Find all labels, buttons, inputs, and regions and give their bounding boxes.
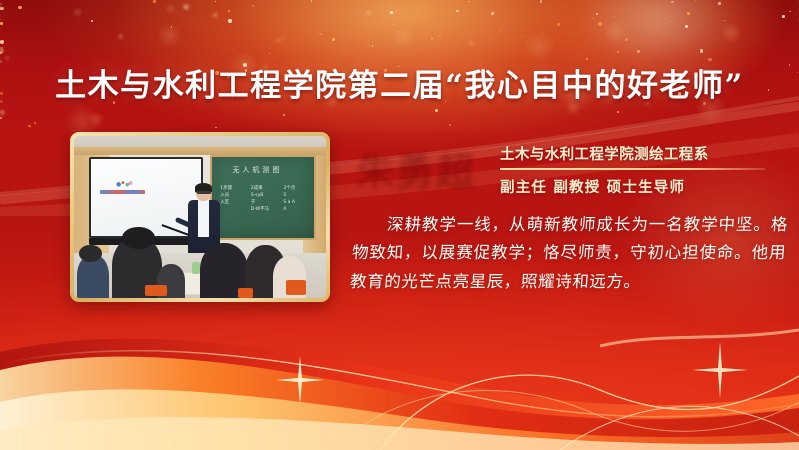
page-title: 土木与水利工程学院第二届“我心目中的好老师” bbox=[0, 60, 799, 105]
poster-canvas: 土木与水利工程学院第二届“我心目中的好老师” 无人机测图 1步骤入员入区 2成果… bbox=[0, 0, 799, 450]
blackboard: 无人机测图 1步骤入员入区 2成果S-syB子D-W不马 3个点SS a AA bbox=[210, 155, 316, 239]
blackboard-column-3: 3个点SS a AA bbox=[283, 186, 295, 213]
slide-illustration bbox=[115, 179, 133, 187]
slide-caption bbox=[100, 190, 145, 194]
teacher-photo-frame: 无人机测图 1步骤入员入区 2成果S-syB子D-W不马 3个点SS a AA bbox=[70, 132, 330, 302]
blackboard-title: 无人机测图 bbox=[232, 165, 282, 175]
teacher-quote: 深耕教学一线，从萌新教师成长为一名教学中坚。格物致知，以展赛促教学；恪尽师责，守… bbox=[349, 211, 789, 296]
blackboard-column-2: 2成果S-syB子D-W不马 bbox=[251, 186, 269, 213]
classroom-photo: 无人机测图 1步骤入员入区 2成果S-syB子D-W不马 3个点SS a AA bbox=[74, 136, 326, 298]
department-label: 土木与水利工程学院测绘工程系 bbox=[500, 143, 780, 164]
position-titles: 副主任 副教授 硕士生导师 bbox=[500, 176, 780, 197]
ribbon-decoration bbox=[0, 290, 799, 450]
divider bbox=[500, 168, 765, 170]
teacher-name: 朱勇超 bbox=[356, 139, 476, 194]
teacher-affiliation: 土木与水利工程学院测绘工程系 副主任 副教授 硕士生导师 bbox=[500, 143, 780, 197]
